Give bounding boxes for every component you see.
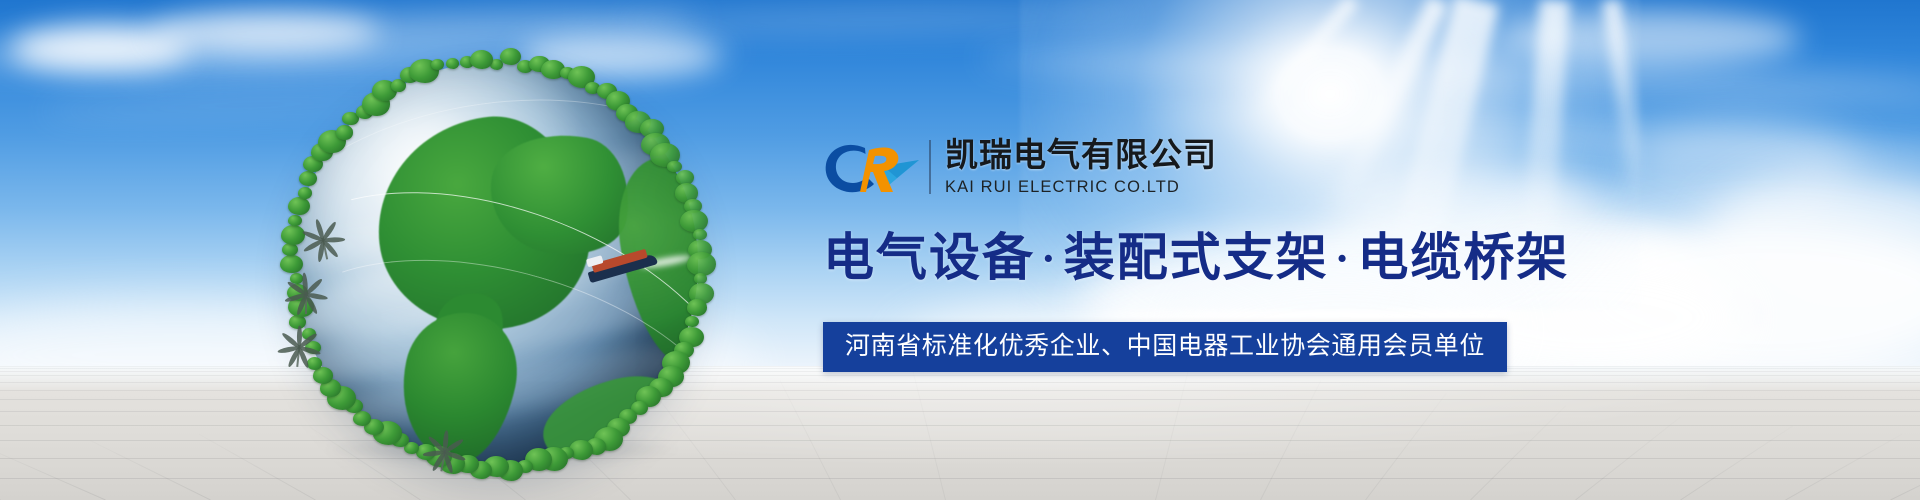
award-badge-text: 河南省标准化优秀企业、中国电器工业协会通用会员单位: [845, 332, 1485, 360]
company-name-en: KAI RUI ELECTRIC CO.LTD: [945, 178, 1217, 196]
headline-part-2: 装配式支架: [1064, 231, 1329, 287]
headline-part-1: 电气设备: [823, 231, 1035, 287]
logo-divider: [929, 140, 931, 194]
hero-banner: 凯瑞电气有限公司 KAI RUI ELECTRIC CO.LTD 电气设备·装配…: [0, 0, 1920, 500]
kairui-cr-monogram-icon[interactable]: [823, 132, 923, 202]
headline-part-3: 电缆桥架: [1357, 231, 1569, 287]
globe-sphere: [294, 62, 698, 466]
headline-separator: ·: [1035, 234, 1064, 283]
company-name-cn: 凯瑞电气有限公司: [945, 137, 1217, 174]
green-earth-globe: [268, 40, 724, 476]
award-badge-bar: 河南省标准化优秀企业、中国电器工业协会通用会员单位: [823, 322, 1507, 372]
headline-slogan: 电气设备·装配式支架·电缆桥架: [823, 234, 1523, 285]
logo-text-block: 凯瑞电气有限公司 KAI RUI ELECTRIC CO.LTD: [945, 137, 1217, 196]
headline-separator: ·: [1329, 234, 1358, 283]
banner-content: 凯瑞电气有限公司 KAI RUI ELECTRIC CO.LTD 电气设备·装配…: [823, 130, 1523, 372]
logo-lockup[interactable]: 凯瑞电气有限公司 KAI RUI ELECTRIC CO.LTD: [823, 130, 1523, 204]
paving-joint-horizontal: [0, 478, 1920, 479]
